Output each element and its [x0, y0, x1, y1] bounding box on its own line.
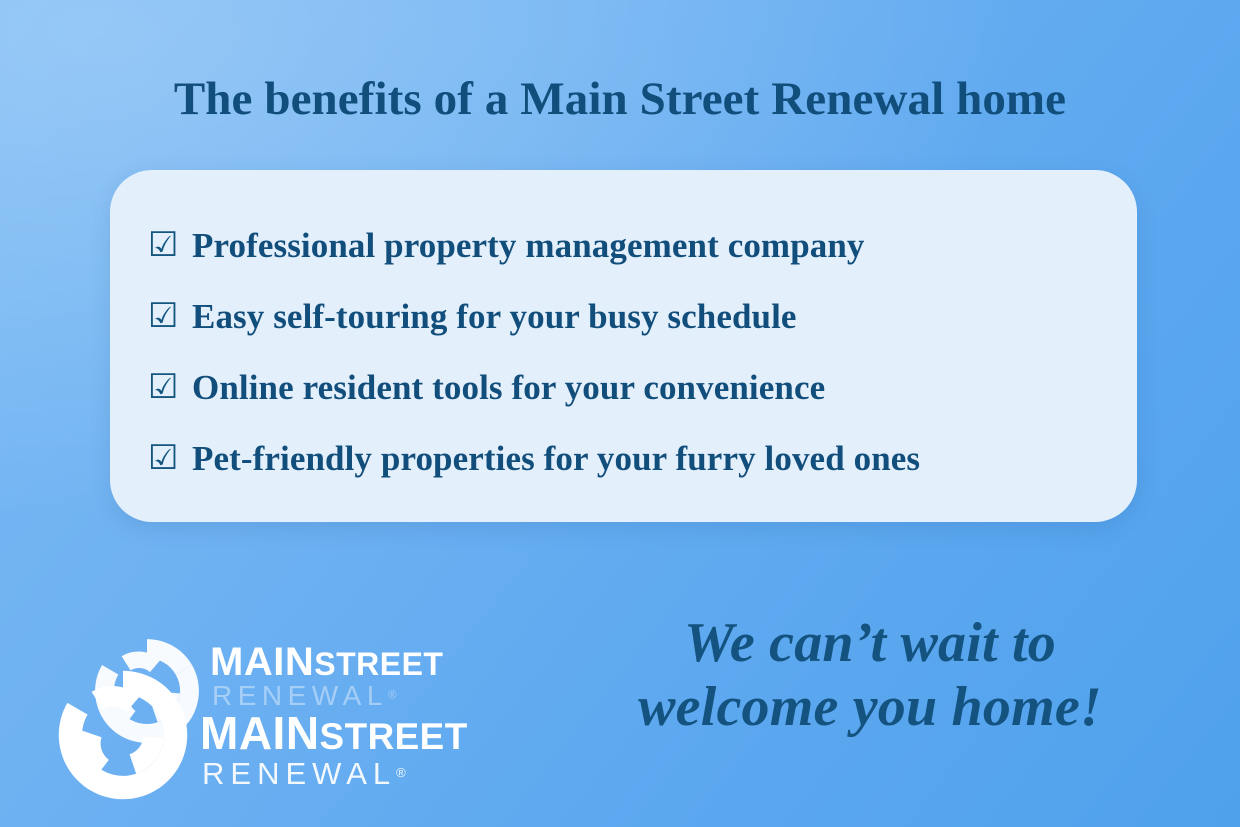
tagline: We can’t wait to welcome you home!	[560, 612, 1180, 740]
registered-trademark-symbol: ®	[396, 765, 406, 780]
tagline-line-1: We can’t wait to	[560, 612, 1180, 676]
checked-box-icon: ☑	[148, 441, 192, 475]
benefit-label: Easy self-touring for your busy schedule	[192, 297, 797, 337]
logo-wordmark-renewal: RENEWAL®	[202, 758, 406, 789]
benefit-label: Pet-friendly properties for your furry l…	[192, 439, 920, 479]
registered-trademark-symbol: ®	[388, 689, 397, 702]
benefit-label: Professional property management company	[192, 226, 865, 266]
logo-word-main-secondary: STREET	[320, 716, 468, 757]
checked-box-icon: ☑	[148, 228, 192, 262]
list-item: ☑ Easy self-touring for your busy schedu…	[148, 281, 1113, 352]
logo-word-renewal: RENEWAL	[202, 756, 396, 791]
logo-wordmark-main: MAINSTREET	[210, 642, 443, 682]
checked-box-icon: ☑	[148, 299, 192, 333]
tagline-line-2: welcome you home!	[560, 676, 1180, 740]
list-item: ☑ Pet-friendly properties for your furry…	[148, 423, 1113, 494]
logo-word-main-primary: MAIN	[200, 707, 320, 759]
logo-wordmark-renewal: RENEWAL®	[212, 682, 397, 710]
logo-wordmark-main: MAINSTREET	[200, 710, 468, 756]
pinwheel-swirl-icon	[50, 662, 196, 808]
logo-word-main-secondary: STREET	[314, 646, 443, 682]
page-title: The benefits of a Main Street Renewal ho…	[0, 72, 1240, 126]
benefit-label: Online resident tools for your convenien…	[192, 368, 825, 408]
list-item: ☑ Professional property management compa…	[148, 210, 1113, 281]
logo-word-main-primary: MAIN	[210, 640, 314, 684]
brand-logo: MAINSTREET RENEWAL® MAINSTREET RENEWAL®	[44, 628, 514, 788]
benefits-card: ☑ Professional property management compa…	[110, 170, 1137, 522]
checked-box-icon: ☑	[148, 370, 192, 404]
benefits-list: ☑ Professional property management compa…	[148, 210, 1113, 494]
poster-canvas: The benefits of a Main Street Renewal ho…	[0, 0, 1240, 827]
list-item: ☑ Online resident tools for your conveni…	[148, 352, 1113, 423]
